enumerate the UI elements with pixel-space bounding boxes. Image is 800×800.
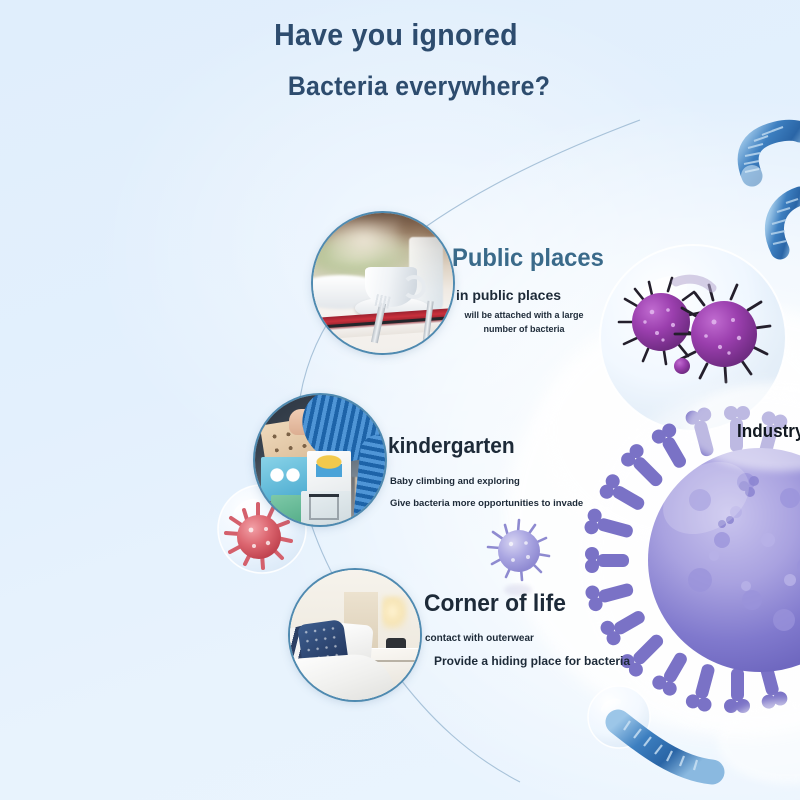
section-kindergarten: kindergarten Baby climbing and exploring… — [388, 435, 583, 509]
section-title-corner-of-life: Corner of life — [424, 592, 620, 616]
section-subtitle-kindergarten: Baby climbing and exploring — [390, 476, 583, 487]
photo-circle-kindergarten[interactable] — [255, 395, 385, 525]
photo-circle-corner-of-life[interactable] — [290, 570, 420, 700]
infographic-poster: Have you ignored Bacteria everywhere? — [0, 0, 800, 800]
faint-dish-bottom — [718, 700, 800, 784]
section-description-corner-of-life: Provide a hiding place for bacteria — [434, 654, 630, 668]
bedroom-photo — [290, 570, 420, 700]
purple-virus-a — [619, 278, 703, 364]
photo-circle-public-places[interactable] — [313, 213, 453, 353]
number-block-icon — [301, 491, 351, 525]
section-title-industry: Industry — [737, 421, 800, 442]
bubble-with-purple-viruses — [600, 245, 786, 431]
section-subtitle-corner-of-life: contact with outerwear — [425, 633, 630, 644]
section-description-public-places: will be attached with a large number of … — [454, 309, 594, 336]
blue-bacteria-top-1 — [741, 127, 800, 187]
purple-virus-dot — [674, 358, 690, 374]
background-glow — [505, 305, 800, 735]
restaurant-table-photo — [313, 213, 453, 353]
section-subtitle-public-places: in public places — [456, 287, 612, 303]
baby-blocks-photo — [255, 395, 385, 525]
section-description-kindergarten: Give bacteria more opportunities to inva… — [390, 498, 583, 509]
bubble-with-blue-bacteria-bottom — [588, 686, 712, 772]
purple-virus-b — [675, 285, 770, 382]
section-title-public-places: Public places — [452, 246, 604, 271]
section-public-places: Public places in public places will be a… — [452, 246, 612, 336]
headline-block: Have you ignored Bacteria everywhere? — [0, 18, 800, 102]
lilac-virus — [488, 520, 549, 596]
section-corner-of-life: Corner of life contact with outerwear Pr… — [424, 592, 630, 668]
headline-line-2: Bacteria everywhere? — [68, 72, 769, 102]
section-title-kindergarten: kindergarten — [388, 435, 573, 457]
bedside-lamp-icon — [382, 596, 408, 630]
blue-bacteria-top-2 — [771, 196, 800, 250]
blurred-background-icon — [329, 219, 399, 263]
headline-line-1: Have you ignored — [24, 18, 767, 52]
blue-bacteria-bottom — [618, 722, 712, 772]
pale-bacterium-in-bubble — [676, 279, 712, 288]
